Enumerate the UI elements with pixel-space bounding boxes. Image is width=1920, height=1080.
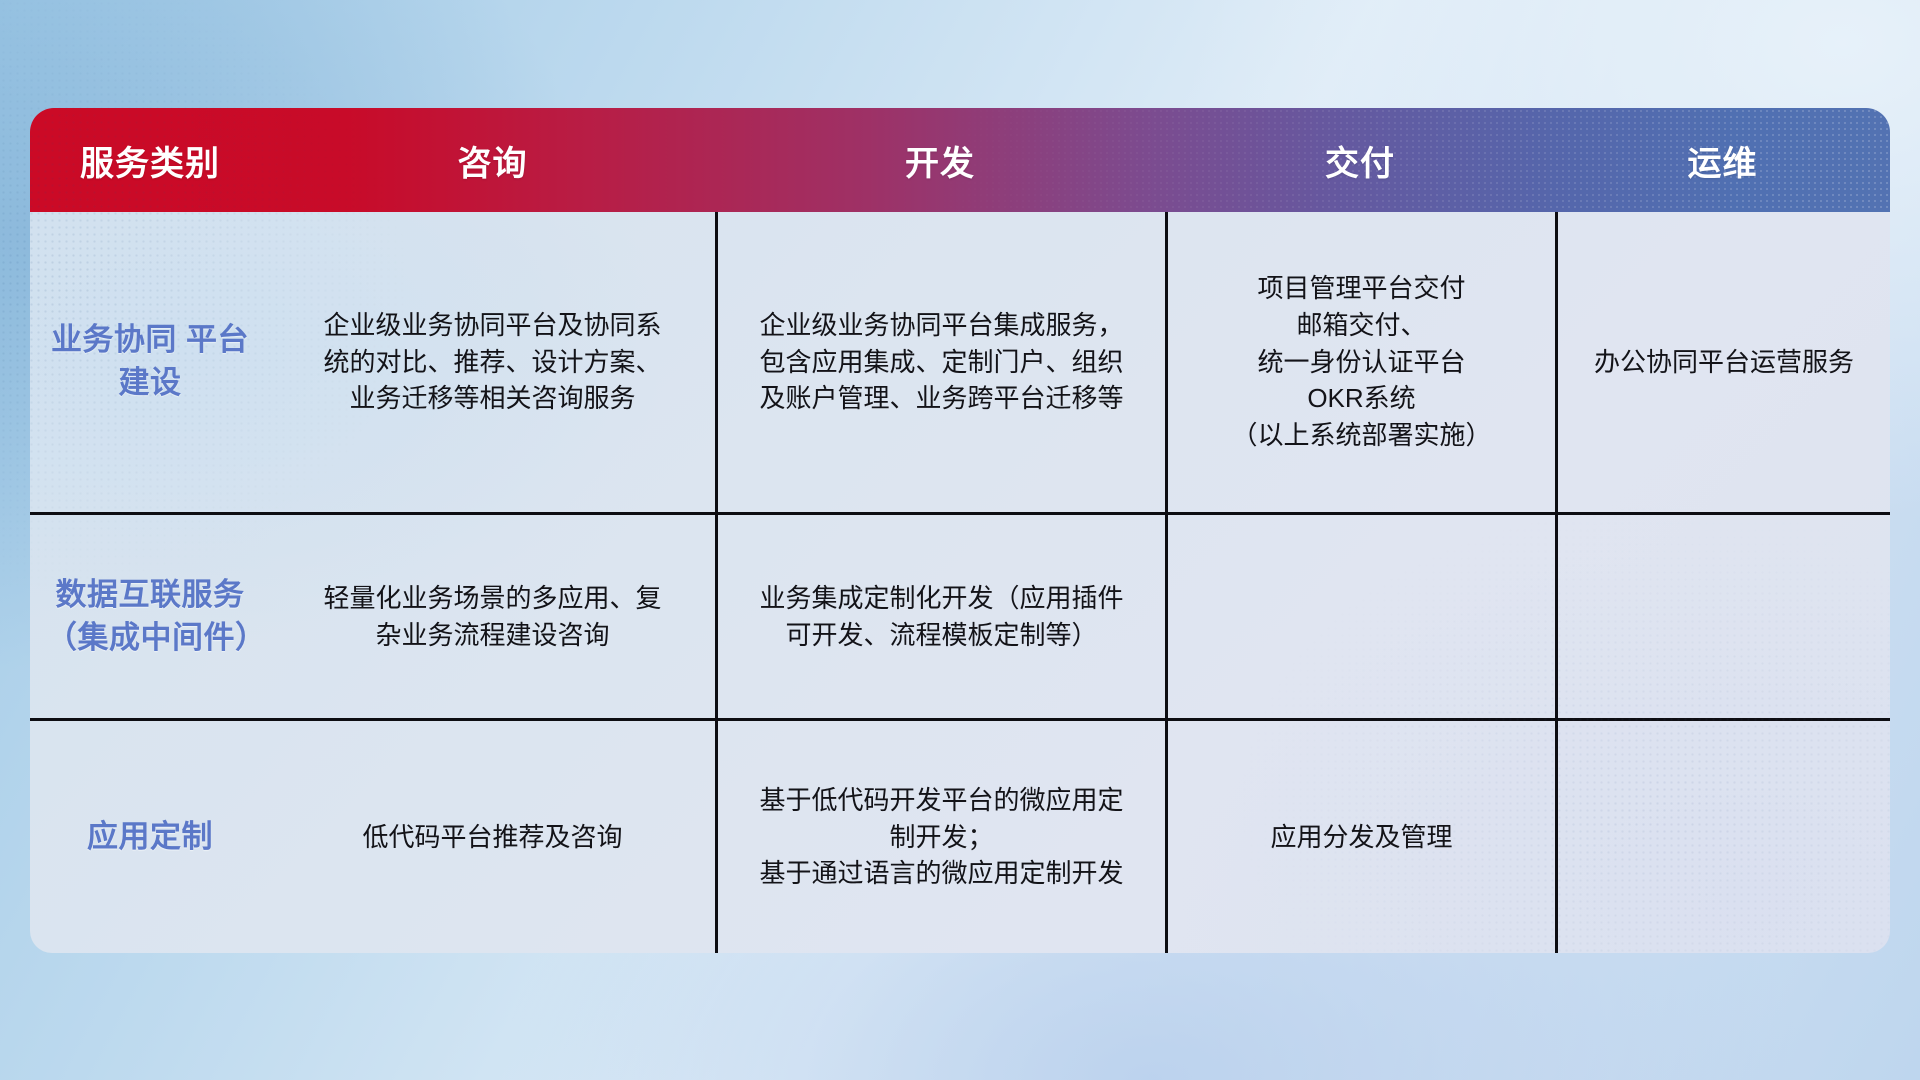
- column-header-delivery: 交付: [1165, 136, 1555, 185]
- cell-operations: [1555, 721, 1890, 953]
- cell-development: 企业级业务协同平台集成服务， 包含应用集成、定制门户、组织 及账户管理、业务跨平…: [715, 212, 1165, 512]
- table-row: 数据互联服务 （集成中间件） 轻量化业务场景的多应用、复 杂业务流程建设咨询 业…: [30, 512, 1890, 718]
- cell-consulting: 企业级业务协同平台及协同系 统的对比、推荐、设计方案、 业务迁移等相关咨询服务: [270, 212, 715, 512]
- cell-delivery: 项目管理平台交付 邮箱交付、 统一身份认证平台 OKR系统 （以上系统部署实施）: [1165, 212, 1555, 512]
- table-row: 业务协同 平台建设 企业级业务协同平台及协同系 统的对比、推荐、设计方案、 业务…: [30, 212, 1890, 512]
- cell-consulting: 轻量化业务场景的多应用、复 杂业务流程建设咨询: [270, 515, 715, 718]
- table-body: 业务协同 平台建设 企业级业务协同平台及协同系 统的对比、推荐、设计方案、 业务…: [30, 212, 1890, 953]
- cell-development: 业务集成定制化开发（应用插件 可开发、流程模板定制等）: [715, 515, 1165, 718]
- column-header-operations: 运维: [1555, 136, 1890, 185]
- cell-operations: 办公协同平台运营服务: [1555, 212, 1890, 512]
- table-row: 应用定制 低代码平台推荐及咨询 基于低代码开发平台的微应用定 制开发； 基于通过…: [30, 718, 1890, 953]
- column-header-service-category: 服务类别: [30, 136, 270, 185]
- row-label-cell: 应用定制: [30, 721, 270, 953]
- cell-operations: [1555, 515, 1890, 718]
- table-header-row: 服务类别 咨询 开发 交付 运维: [30, 108, 1890, 212]
- cell-delivery: 应用分发及管理: [1165, 721, 1555, 953]
- column-header-consulting: 咨询: [270, 136, 715, 185]
- row-label-cell: 业务协同 平台建设: [30, 212, 270, 512]
- cell-consulting: 低代码平台推荐及咨询: [270, 721, 715, 953]
- column-header-development: 开发: [715, 136, 1165, 185]
- slide-canvas: 服务类别 咨询 开发 交付 运维 业务协同 平台建设 企业级业务协同平台及协同系…: [0, 0, 1920, 1080]
- service-matrix-table: 服务类别 咨询 开发 交付 运维 业务协同 平台建设 企业级业务协同平台及协同系…: [30, 108, 1890, 953]
- cell-development: 基于低代码开发平台的微应用定 制开发； 基于通过语言的微应用定制开发: [715, 721, 1165, 953]
- cell-delivery: [1165, 515, 1555, 718]
- row-label-cell: 数据互联服务 （集成中间件）: [30, 515, 270, 718]
